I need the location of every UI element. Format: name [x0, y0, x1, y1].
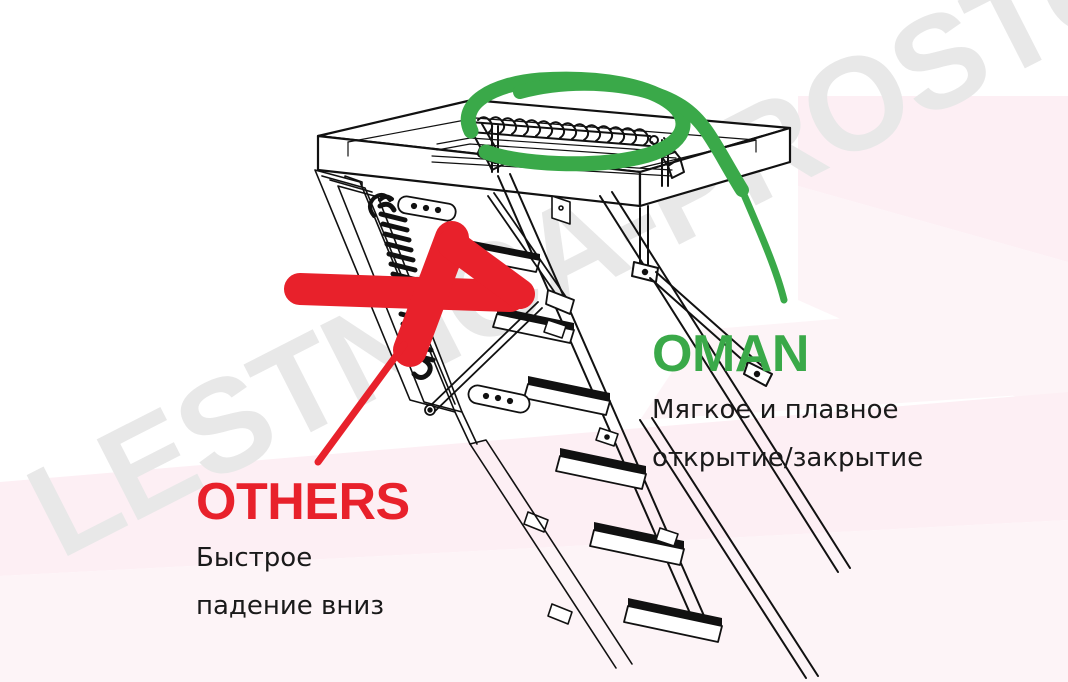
others-subtitle-line-1: Быстрое [196, 538, 496, 578]
red-arrow-tail [318, 345, 404, 462]
oman-subtitle-line-1: Мягкое и плавное [652, 390, 982, 430]
others-subtitle-line-2: падение вниз [196, 586, 496, 626]
others-title: OTHERS [196, 474, 496, 530]
oman-title: OMAN [652, 326, 982, 382]
callout-others: OTHERS Быстрое падение вниз [196, 474, 496, 626]
callout-oman: OMAN Мягкое и плавное открытие/закрытие [652, 326, 982, 478]
red-cross-horizontal [300, 289, 510, 296]
illustration-canvas: LESTNICA-PROSTO.RU [0, 0, 1068, 682]
oman-subtitle-line-2: открытие/закрытие [652, 438, 982, 478]
